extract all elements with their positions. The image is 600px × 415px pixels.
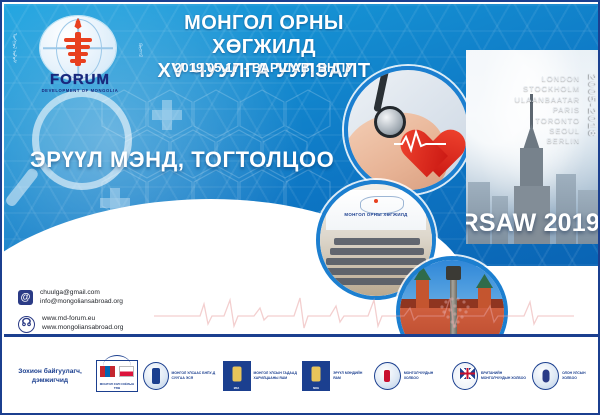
- forum-logo: FORUM DEVELOPMENT OF MONGOLIA: [26, 10, 134, 94]
- heart-stethoscope-photo: [344, 66, 472, 194]
- conference-poster: ᠮᠣᠩᠭᠣᠯ ᠤᠯᠤᠰ ᠬᠥᠭᠵᠢᠯ FORUM DEVELOPMENT OF …: [0, 0, 600, 415]
- stethoscope-head-icon: [374, 106, 406, 138]
- organizers-label: Зохион байгуулагч, дэмжигчид: [4, 367, 96, 385]
- sponsor-item: МОНГОЛ ХЭЛ СОЁЛЫН ТӨВ: [96, 360, 138, 392]
- sponsor-name: МОНГОЛ ХЭЛ СОЁЛЫН ТӨВ: [97, 382, 137, 390]
- sponsor-name: ОЛОН УЛСЫН ХОЛБОО: [562, 371, 600, 380]
- mongolia-flag-icon: [100, 366, 115, 377]
- past-cities-list: LONDON STOCKHOLM ULAANBAATAR PARIS TORON…: [480, 74, 580, 147]
- organizers-label-line-1: Зохион байгуулагч,: [4, 367, 96, 376]
- forum-logo-name: FORUM: [26, 72, 134, 87]
- sponsor-name: МОНГОЛЧУУДЫН ХОЛБОО: [404, 371, 448, 380]
- forum-logo-tagline: DEVELOPMENT OF MONGOLIA: [26, 88, 134, 93]
- website-url[interactable]: www.md-forum.eu: [42, 314, 123, 323]
- sponsor-name: БРИТАНИЙН МОНГОЛЧУУДЫН ХОЛБОО: [481, 371, 527, 380]
- poster-artwork-area: ᠮᠣᠩᠭᠣᠯ ᠤᠯᠤᠰ ᠬᠥᠭᠵᠢᠯ FORUM DEVELOPMENT OF …: [4, 4, 600, 334]
- at-sign-icon: @: [18, 290, 33, 305]
- email-address[interactable]: info@mongoliansabroad.org: [40, 297, 123, 306]
- foreign-ministry-emblem-icon: MFA: [223, 361, 251, 391]
- sponsor-item: БРИТАНИЙН МОНГОЛЧУУДЫН ХОЛБОО: [452, 362, 527, 390]
- poland-flag-icon: [119, 366, 134, 377]
- footer-divider: [4, 334, 600, 337]
- ecg-waveform-decoration: [154, 290, 574, 332]
- british-mongolians-emblem-icon: [452, 362, 478, 390]
- theme-headline: ЭРҮҮЛ МЭНД, ТОГТОЛЦОО: [30, 147, 334, 173]
- website-list: www.md-forum.eu www.mongoliansabroad.org: [42, 314, 123, 333]
- bridge-icon: [103, 355, 131, 366]
- sponsors-footer: Зохион байгуулагч, дэмжигчид МОНГОЛ ХЭЛ …: [4, 339, 600, 413]
- sponsor-name: МОНГОЛ УЛСААС БНПУ-Д СУУГАА ЭСЯ: [172, 371, 218, 380]
- city-item: STOCKHOLM: [480, 84, 580, 94]
- email-contact-row: @ chuulga@gmail.com info@mongoliansabroa…: [18, 288, 123, 307]
- city-item: SEOUL: [480, 126, 580, 136]
- email-list: chuulga@gmail.com info@mongoliansabroad.…: [40, 288, 123, 307]
- heart-dots-decoration: [434, 292, 480, 332]
- warsaw-skyline-panel: LONDON STOCKHOLM ULAANBAATAR PARIS TORON…: [466, 50, 600, 244]
- international-union-emblem-icon: [532, 362, 559, 390]
- sponsor-logos: МОНГОЛ ХЭЛ СОЁЛЫН ТӨВ МОНГОЛ УЛСААС БНПУ…: [96, 360, 600, 392]
- health-ministry-emblem-icon: MOH: [302, 361, 330, 391]
- sponsor-item: MOH ЭРҮҮЛ МЭНДИЙН ЯАМ: [302, 361, 369, 391]
- embassy-emblem-icon: [143, 362, 169, 390]
- sponsor-item: МОНГОЛ УЛСААС БНПУ-Д СУУГАА ЭСЯ: [143, 362, 218, 390]
- mongolia-poland-flags-mark: МОНГОЛ ХЭЛ СОЁЛЫН ТӨВ: [96, 360, 138, 392]
- city-item: ULAANBAATAR: [480, 95, 580, 105]
- conference-banner-text: МОНГОЛ ОРНЫ ХӨГЖИЛД: [326, 212, 426, 217]
- city-item: LONDON: [480, 74, 580, 84]
- map-marker-icon: [374, 199, 378, 203]
- warsaw-2019-label: WARSAW 2019: [466, 209, 600, 238]
- contact-block: @ chuulga@gmail.com info@mongoliansabroa…: [18, 288, 123, 334]
- years-range: 2005-2018: [586, 74, 598, 137]
- soyombo-flame-icon: [64, 18, 92, 72]
- city-item: BERLIN: [480, 136, 580, 146]
- sponsor-name: МОНГОЛ УЛСЫН ГАДААД ХАРИЛЦААНЫ ЯАМ: [254, 371, 298, 380]
- city-item: TORONTO: [480, 116, 580, 126]
- sponsor-item: MFA МОНГОЛ УЛСЫН ГАДААД ХАРИЛЦААНЫ ЯАМ: [223, 361, 298, 391]
- forum-logo-text: FORUM DEVELOPMENT OF MONGOLIA: [26, 72, 134, 93]
- website-url[interactable]: www.mongoliansabroad.org: [42, 323, 123, 332]
- sponsor-item: ОЛОН УЛСЫН ХОЛБОО: [532, 362, 600, 390]
- globe-icon: ☊: [18, 316, 35, 333]
- sponsor-item: МОНГОЛЧУУДЫН ХОЛБОО: [374, 362, 448, 390]
- conference-banner: МОНГОЛ ОРНЫ ХӨГЖИЛД: [326, 190, 426, 230]
- sponsor-name: ЭРҮҮЛ МЭНДИЙН ЯАМ: [333, 371, 369, 380]
- organizers-label-line-2: дэмжигчид: [4, 376, 96, 385]
- mongolians-union-emblem-icon: [374, 362, 401, 390]
- title-line-1: МОНГОЛ ОРНЫ ХӨГЖИЛД: [134, 11, 394, 59]
- website-contact-row: ☊ www.md-forum.eu www.mongoliansabroad.o…: [18, 314, 123, 333]
- city-item: PARIS: [480, 105, 580, 115]
- mongolian-script-left: ᠮᠣᠩᠭᠣᠯ ᠤᠯᠤᠰ: [8, 12, 20, 84]
- email-address[interactable]: chuulga@gmail.com: [40, 288, 123, 297]
